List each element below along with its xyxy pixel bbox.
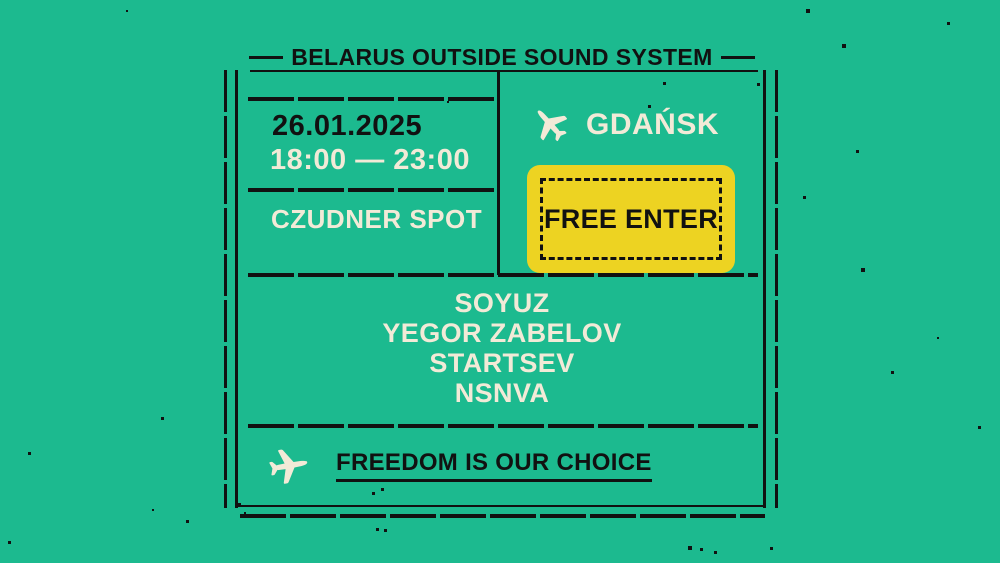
list-item: YEGOR ZABELOV bbox=[232, 318, 772, 348]
frame-left-outer-rail bbox=[224, 70, 227, 508]
title-dash-left bbox=[249, 56, 283, 59]
frame-bottom-rule bbox=[240, 514, 765, 518]
airplane-diagonal-icon bbox=[528, 105, 572, 145]
free-enter-badge[interactable]: FREE ENTER bbox=[527, 165, 735, 273]
event-date: 26.01.2025 bbox=[272, 110, 422, 143]
event-city: GDAŃSK bbox=[586, 108, 719, 142]
footer-slogan: FREEDOM IS OUR CHOICE bbox=[336, 449, 652, 482]
event-city-row: GDAŃSK bbox=[528, 105, 719, 145]
frame-divider-under-datetime bbox=[248, 188, 498, 192]
airplane-right-icon bbox=[264, 444, 312, 486]
event-time: 18:00 — 23:00 bbox=[270, 144, 470, 177]
title-dash-right bbox=[721, 56, 755, 59]
lineup-list: SOYUZ YEGOR ZABELOV STARTSEV NSNVA bbox=[232, 288, 772, 408]
frame-right-outer-rail bbox=[775, 70, 778, 508]
page-title: BELARUS OUTSIDE SOUND SYSTEM bbox=[291, 44, 712, 71]
frame-cell-divider bbox=[497, 72, 500, 275]
list-item: NSNVA bbox=[232, 378, 772, 408]
frame-divider-under-venue bbox=[248, 273, 758, 277]
event-venue: CZUDNER SPOT bbox=[271, 204, 482, 235]
frame-divider-top bbox=[248, 97, 498, 101]
frame-bottom-thin-rule bbox=[238, 505, 763, 507]
event-poster: BELARUS OUTSIDE SOUND SYSTEM 26.01.2025 … bbox=[0, 0, 1000, 563]
list-item: SOYUZ bbox=[232, 288, 772, 318]
slogan-row: FREEDOM IS OUR CHOICE bbox=[264, 444, 652, 486]
poster-title-row: BELARUS OUTSIDE SOUND SYSTEM bbox=[232, 44, 772, 71]
free-enter-label: FREE ENTER bbox=[527, 165, 735, 273]
list-item: STARTSEV bbox=[232, 348, 772, 378]
frame-divider-above-slogan bbox=[248, 424, 758, 428]
